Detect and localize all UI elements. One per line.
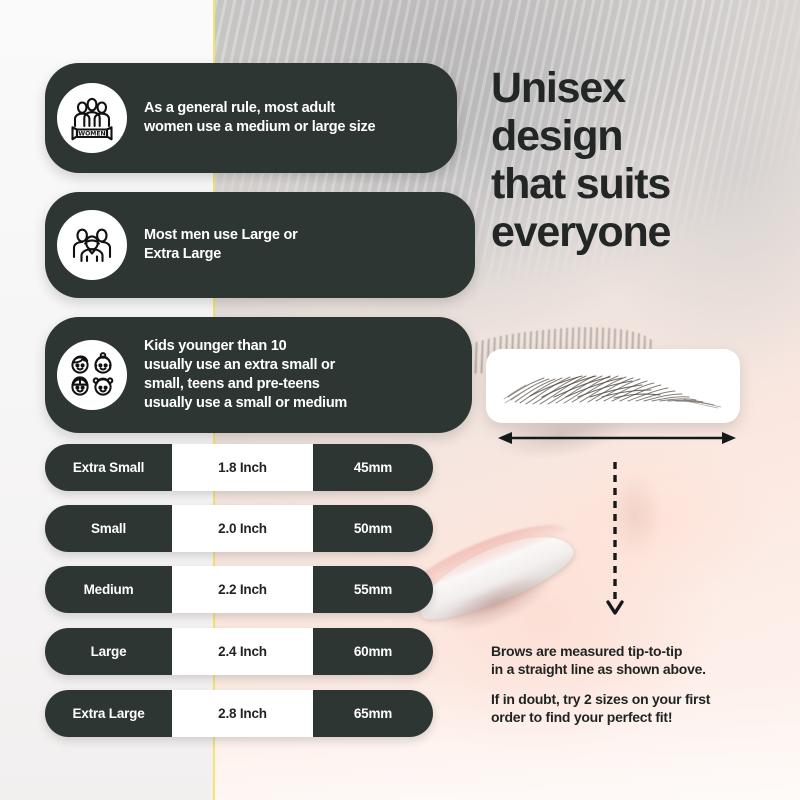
- women-group-icon: WOMEN: [57, 83, 127, 153]
- headline-line-4: everyone: [491, 208, 791, 256]
- info-card-men: Most men use Large or Extra Large: [45, 192, 475, 298]
- kids-faces-icon: [57, 340, 127, 410]
- size-inches: 2.2 Inch: [172, 566, 313, 613]
- info-card-women: WOMEN As a general rule, most adult wome…: [45, 63, 457, 173]
- card-men-line-1: Most men use Large or: [144, 226, 297, 245]
- tip-to-tip-measurement-arrow: [498, 430, 736, 446]
- note2-line-2: order to find your perfect fit!: [491, 708, 791, 726]
- table-row: Large 2.4 Inch 60mm: [45, 628, 433, 675]
- table-row: Extra Small 1.8 Inch 45mm: [45, 444, 433, 491]
- size-name: Extra Large: [45, 690, 172, 737]
- measurement-note: Brows are measured tip-to-tip in a strai…: [491, 642, 781, 678]
- card-men-line-2: Extra Large: [144, 245, 297, 264]
- size-inches: 2.8 Inch: [172, 690, 313, 737]
- headline-line-1: Unisex: [491, 64, 791, 112]
- note1-line-1: Brows are measured tip-to-tip: [491, 642, 781, 660]
- size-mm: 55mm: [313, 566, 433, 613]
- size-name: Large: [45, 628, 172, 675]
- card-kids-line-4: usually use a small or medium: [144, 394, 347, 413]
- headline-line-2: design: [491, 112, 791, 160]
- size-mm: 45mm: [313, 444, 433, 491]
- size-inches: 1.8 Inch: [172, 444, 313, 491]
- table-row: Medium 2.2 Inch 55mm: [45, 566, 433, 613]
- card-kids-line-3: small, teens and pre-teens: [144, 375, 347, 394]
- size-name: Medium: [45, 566, 172, 613]
- eyebrow-sample-card: [486, 349, 740, 423]
- women-banner-label: WOMEN: [78, 130, 105, 137]
- info-card-kids: Kids younger than 10 usually use an extr…: [45, 317, 472, 433]
- size-inches: 2.0 Inch: [172, 505, 313, 552]
- dashed-down-arrow-icon: [606, 462, 624, 622]
- sizing-advice-note: If in doubt, try 2 sizes on your first o…: [491, 690, 791, 726]
- card-women-line-2: women use a medium or large size: [144, 118, 375, 137]
- page-title: Unisex design that suits everyone: [491, 64, 791, 256]
- men-group-icon: [57, 210, 127, 280]
- info-card-men-text: Most men use Large or Extra Large: [144, 226, 297, 264]
- table-row: Small 2.0 Inch 50mm: [45, 505, 433, 552]
- infographic-canvas: Unisex design that suits everyone WOMEN: [0, 0, 800, 800]
- eyebrow-illustration: [500, 363, 726, 409]
- info-card-kids-text: Kids younger than 10 usually use an extr…: [144, 337, 347, 413]
- size-mm: 60mm: [313, 628, 433, 675]
- size-mm: 50mm: [313, 505, 433, 552]
- headline-line-3: that suits: [491, 160, 791, 208]
- size-mm: 65mm: [313, 690, 433, 737]
- card-kids-line-2: usually use an extra small or: [144, 356, 347, 375]
- size-inches: 2.4 Inch: [172, 628, 313, 675]
- table-row: Extra Large 2.8 Inch 65mm: [45, 690, 433, 737]
- size-name: Extra Small: [45, 444, 172, 491]
- card-women-line-1: As a general rule, most adult: [144, 99, 375, 118]
- info-card-women-text: As a general rule, most adult women use …: [144, 99, 375, 137]
- note1-line-2: in a straight line as shown above.: [491, 660, 781, 678]
- note2-line-1: If in doubt, try 2 sizes on your first: [491, 690, 791, 708]
- size-name: Small: [45, 505, 172, 552]
- card-kids-line-1: Kids younger than 10: [144, 337, 347, 356]
